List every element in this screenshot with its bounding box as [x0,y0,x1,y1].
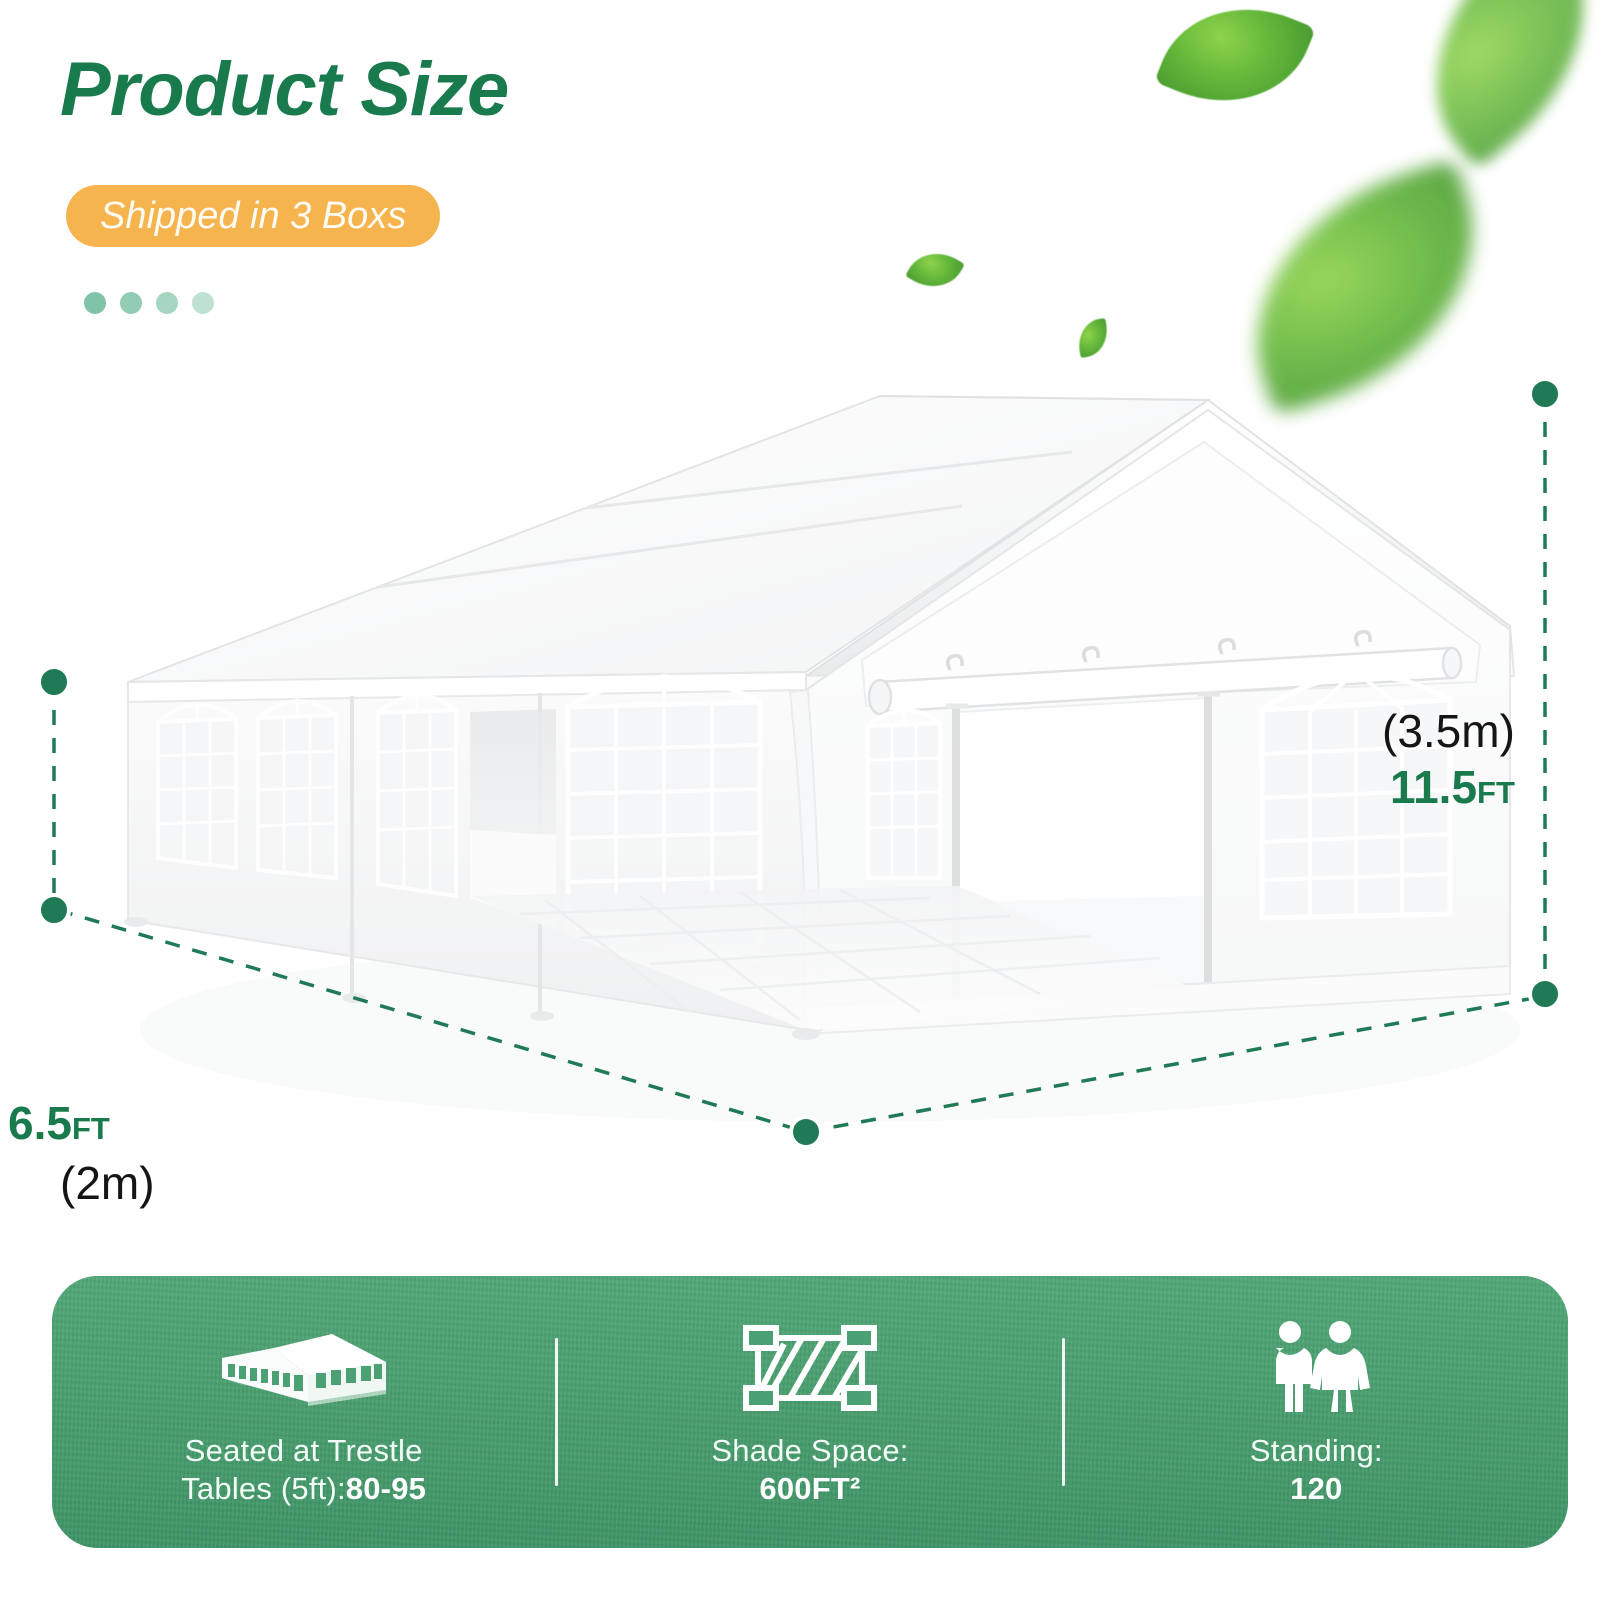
product-illustration-stage: (3.5m) 11.5FT 6.5FT (2m) 30FT (9m) 20FT … [0,330,1620,1250]
dimension-endpoint-dot [39,895,69,925]
height-feet-unit: FT [1477,775,1515,810]
header: Product Size Shipped in 3 Boxs [0,0,900,340]
dimension-label-side-height: 6.5FT (2m) [8,1100,155,1206]
capacity-item-standing: Standing: 120 [1065,1276,1568,1548]
dimension-endpoint-dot [1530,379,1560,409]
progress-dots [84,292,214,314]
tent-icon [216,1322,392,1414]
side-feet-unit: FT [72,1111,110,1146]
leaf-icon [1381,0,1620,170]
capacity-item-seated-label: Seated at Trestle Tables (5ft):80-95 [181,1432,426,1509]
capacity-item-shade-label: Shade Space: 600FT² [711,1432,908,1509]
capacity-summary-panel: Seated at Trestle Tables (5ft):80-95 [52,1276,1568,1548]
shade-value: 600FT² [759,1471,860,1506]
capacity-item-seated: Seated at Trestle Tables (5ft):80-95 [52,1276,555,1548]
height-feet: 11.5 [1390,761,1477,813]
shade-label-line1: Shade Space: [711,1433,908,1468]
shipped-in-boxes-badge: Shipped in 3 Boxs [66,185,440,247]
leaf-icon [1154,0,1316,130]
dimension-endpoint-dot [1530,979,1560,1009]
shipped-badge-label: Shipped in 3 Boxs [100,197,406,235]
tent-illustration [0,330,1620,1250]
seated-label-line1: Seated at Trestle [185,1433,423,1468]
standing-label-line1: Standing: [1250,1433,1383,1468]
people-standing-icon [1258,1322,1374,1414]
seated-value: 80-95 [346,1471,426,1506]
dimension-label-height: (3.5m) 11.5FT [1382,708,1515,810]
page-title: Product Size [60,52,508,128]
standing-value: 120 [1290,1471,1342,1506]
capacity-item-standing-label: Standing: 120 [1250,1432,1383,1509]
seated-label-line2: Tables (5ft): [181,1471,346,1506]
dimension-endpoint-dot [791,1117,821,1147]
side-metric: (2m) [60,1160,155,1206]
progress-dot [84,292,106,314]
height-metric: (3.5m) [1382,708,1515,754]
side-feet: 6.5 [8,1097,72,1149]
capacity-item-shade: Shade Space: 600FT² [558,1276,1061,1548]
progress-dot [120,292,142,314]
dimension-endpoint-dot [39,667,69,697]
shade-area-icon [740,1322,880,1414]
progress-dot [192,292,214,314]
leaf-icon [905,241,965,299]
progress-dot [156,292,178,314]
